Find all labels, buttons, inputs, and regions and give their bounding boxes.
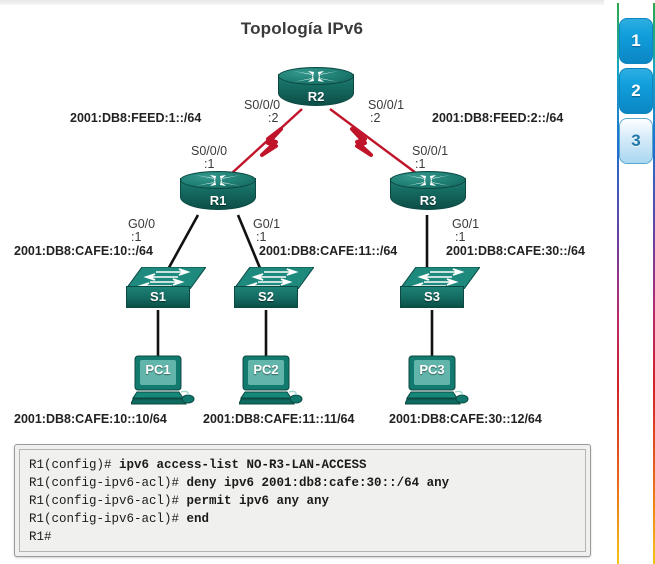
- iface-addr-r1-g00: :1: [131, 231, 141, 244]
- page-title: Topología IPv6: [0, 19, 604, 39]
- right-navigation-rail: 1 2 3: [604, 0, 655, 564]
- host-label-pc1: 2001:DB8:CAFE:10::10/64: [14, 412, 167, 426]
- cli-line: R1(config-ipv6-acl)# end: [29, 510, 576, 528]
- switch-s3[interactable]: S3: [400, 267, 480, 311]
- iface-addr-r1-g01: :1: [256, 231, 266, 244]
- cli-line: R1(config-ipv6-acl)# deny ipv6 2001:db8:…: [29, 474, 576, 492]
- cli-command: end: [187, 512, 210, 526]
- network-label-feed2: 2001:DB8:FEED:2::/64: [432, 111, 563, 125]
- router-r1[interactable]: R1: [180, 171, 256, 217]
- network-label-cafe11: 2001:DB8:CAFE:11::/64: [259, 244, 397, 258]
- cli-console-inner: R1(config)# ipv6 access-list NO-R3-LAN-A…: [19, 449, 586, 552]
- network-label-cafe10: 2001:DB8:CAFE:10::/64: [14, 244, 153, 258]
- rail-button-3[interactable]: 3: [619, 118, 653, 164]
- rail-button-2[interactable]: 2: [619, 68, 653, 114]
- cli-line: R1(config)# ipv6 access-list NO-R3-LAN-A…: [29, 456, 576, 474]
- iface-addr-r3-s001: :1: [415, 158, 425, 171]
- cli-prompt: R1(config-ipv6-acl)#: [29, 512, 187, 526]
- cli-line: R1#: [29, 528, 576, 546]
- router-label: R2: [278, 89, 354, 104]
- router-label: R1: [180, 193, 256, 208]
- router-r3[interactable]: R3: [390, 171, 466, 217]
- host-label-pc3: 2001:DB8:CAFE:30::12/64: [389, 412, 542, 426]
- iface-addr-r2-s000: :2: [268, 112, 278, 125]
- router-label: R3: [390, 193, 466, 208]
- switch-label: S1: [126, 289, 190, 304]
- network-label-cafe30: 2001:DB8:CAFE:30::/64: [446, 244, 585, 258]
- router-arrows-icon: [193, 172, 243, 190]
- cli-command: permit ipv6 any any: [187, 494, 330, 508]
- iface-addr-r1-s000: :1: [204, 158, 214, 171]
- pc-label: PC1: [137, 362, 179, 377]
- pc-label: PC3: [411, 362, 453, 377]
- host-label-pc2: 2001:DB8:CAFE:11::11/64: [203, 412, 354, 426]
- rail-button-1[interactable]: 1: [619, 18, 653, 64]
- network-label-feed1: 2001:DB8:FEED:1::/64: [70, 111, 201, 125]
- router-r2[interactable]: R2: [278, 67, 354, 113]
- iface-addr-r2-s001: :2: [370, 112, 380, 125]
- cli-console[interactable]: R1(config)# ipv6 access-list NO-R3-LAN-A…: [14, 444, 591, 557]
- router-arrows-icon: [403, 172, 453, 190]
- iface-addr-r3-g01: :1: [455, 231, 465, 244]
- switch-s1[interactable]: S1: [126, 267, 206, 311]
- pc-label: PC2: [245, 362, 287, 377]
- switch-s2[interactable]: S2: [234, 267, 314, 311]
- cli-line: R1(config-ipv6-acl)# permit ipv6 any any: [29, 492, 576, 510]
- pc-pc1[interactable]: PC1: [131, 354, 195, 410]
- router-arrows-icon: [291, 68, 341, 86]
- pc-pc3[interactable]: PC3: [405, 354, 469, 410]
- cli-prompt: R1(config-ipv6-acl)#: [29, 494, 187, 508]
- cli-command: deny ipv6 2001:db8:cafe:30::/64 any: [187, 476, 450, 490]
- cli-prompt: R1(config-ipv6-acl)#: [29, 476, 187, 490]
- pc-pc2[interactable]: PC2: [239, 354, 303, 410]
- cli-prompt: R1(config)#: [29, 458, 119, 472]
- switch-label: S3: [400, 289, 464, 304]
- cli-prompt: R1#: [29, 530, 52, 544]
- topology-canvas: Topología IPv6 R2: [0, 5, 604, 564]
- switch-label: S2: [234, 289, 298, 304]
- cli-command: ipv6 access-list NO-R3-LAN-ACCESS: [119, 458, 367, 472]
